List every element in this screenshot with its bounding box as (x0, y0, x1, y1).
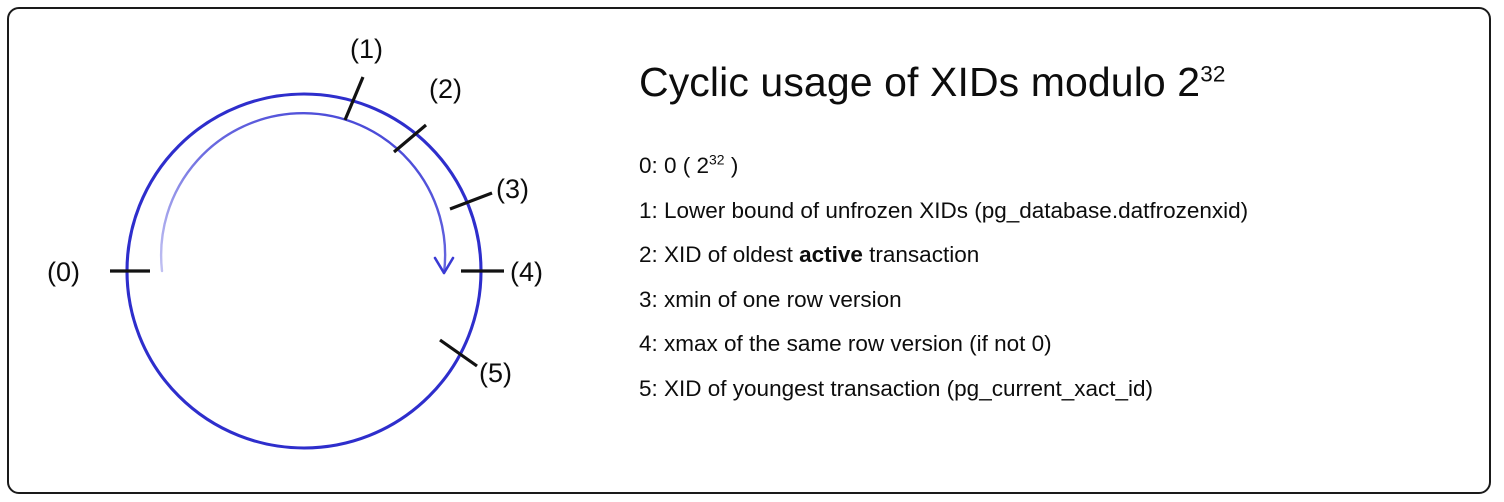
legend-item-5-text: 5: XID of youngest transaction (pg_curre… (639, 376, 1153, 401)
diagram-canvas: (0) (1) (2) (3) (4) (5) (40, 20, 600, 482)
page-title-exponent: 32 (1200, 61, 1225, 86)
legend-item-0-exponent: 32 (709, 152, 725, 168)
tick-label-2: (2) (429, 74, 462, 104)
legend-item-2: 2: XID of oldest active transaction (639, 244, 1439, 267)
legend-item-0-text: 0: 0 ( 2 (639, 153, 709, 178)
legend-item-0-suffix: ) (725, 153, 739, 178)
legend-item-2-prefix: 2: XID of oldest (639, 242, 799, 267)
cyclic-xid-diagram: (0) (1) (2) (3) (4) (5) (40, 20, 600, 482)
legend-item-4-text: 4: xmax of the same row version (if not … (639, 331, 1052, 356)
legend-item-3: 3: xmin of one row version (639, 289, 1439, 312)
tick-label-4: (4) (510, 257, 543, 287)
legend-item-1-text: 1: Lower bound of unfrozen XIDs (pg_data… (639, 198, 1248, 223)
legend-list: 0: 0 ( 232 ) 1: Lower bound of unfrozen … (639, 155, 1439, 400)
page-title-text: Cyclic usage of XIDs modulo 2 (639, 59, 1200, 105)
tick-label-0: (0) (47, 257, 80, 287)
text-panel: Cyclic usage of XIDs modulo 232 0: 0 ( 2… (639, 58, 1439, 422)
legend-item-0: 0: 0 ( 232 ) (639, 155, 1439, 178)
tick-label-5: (5) (479, 358, 512, 388)
legend-item-2-suffix: transaction (863, 242, 979, 267)
legend-item-1: 1: Lower bound of unfrozen XIDs (pg_data… (639, 200, 1439, 223)
page-title: Cyclic usage of XIDs modulo 232 (639, 58, 1439, 107)
legend-item-5: 5: XID of youngest transaction (pg_curre… (639, 378, 1439, 401)
legend-item-2-emphasis: active (799, 242, 863, 267)
legend-item-4: 4: xmax of the same row version (if not … (639, 333, 1439, 356)
clockwise-direction-arc (161, 113, 445, 273)
xid-cycle-circle (127, 94, 481, 448)
tick-label-1: (1) (350, 34, 383, 64)
tick-label-3: (3) (496, 174, 529, 204)
legend-item-3-text: 3: xmin of one row version (639, 287, 902, 312)
slide-root: (0) (1) (2) (3) (4) (5) Cyclic usage of … (0, 0, 1504, 502)
tick-mark-3 (450, 193, 492, 209)
tick-mark-5 (440, 340, 477, 366)
